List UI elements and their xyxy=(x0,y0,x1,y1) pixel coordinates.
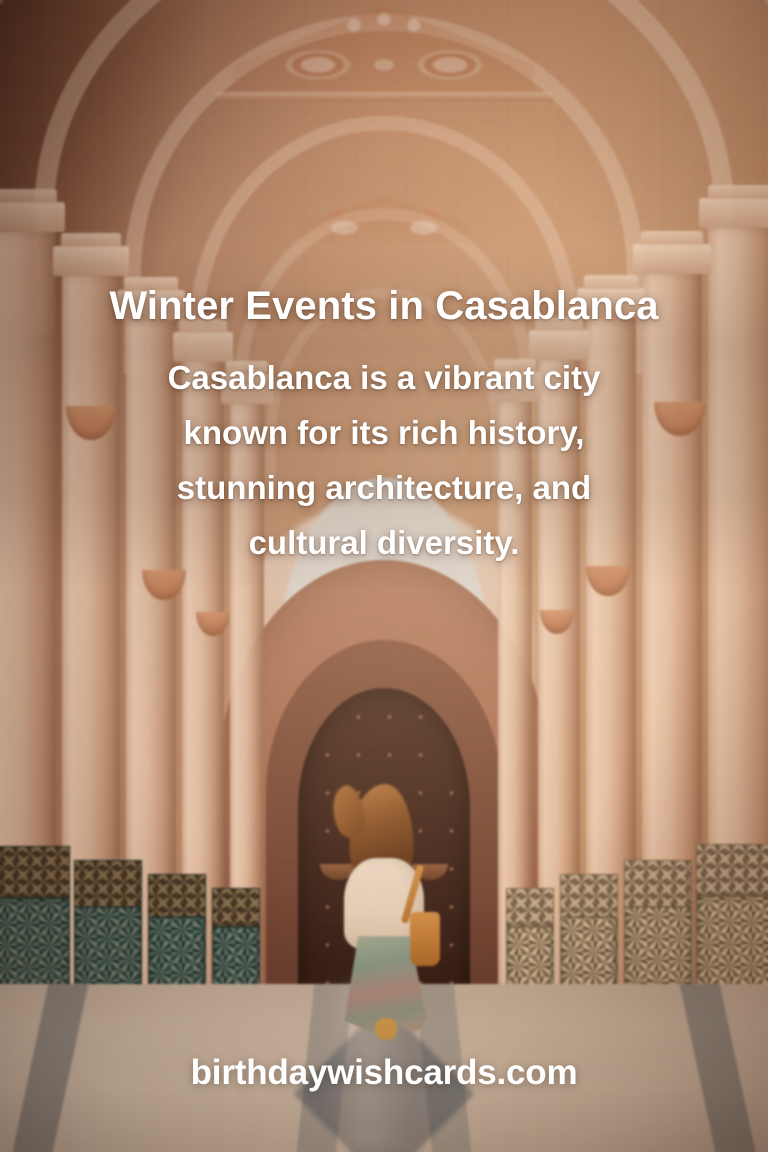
subtitle-line-4: cultural diversity. xyxy=(86,515,682,570)
pin-card: Winter Events in Casablanca Casablanca i… xyxy=(0,0,768,1152)
text-overlay: Winter Events in Casablanca Casablanca i… xyxy=(0,0,768,1152)
page-title: Winter Events in Casablanca xyxy=(0,283,768,329)
subtitle-line-1: Casablanca is a vibrant city xyxy=(86,350,682,405)
site-watermark: birthdaywishcards.com xyxy=(0,1052,768,1094)
subtitle-line-2: known for its rich history, xyxy=(86,405,682,460)
subtitle-line-3: stunning architecture, and xyxy=(86,460,682,515)
subtitle-block: Casablanca is a vibrant city known for i… xyxy=(0,350,768,570)
